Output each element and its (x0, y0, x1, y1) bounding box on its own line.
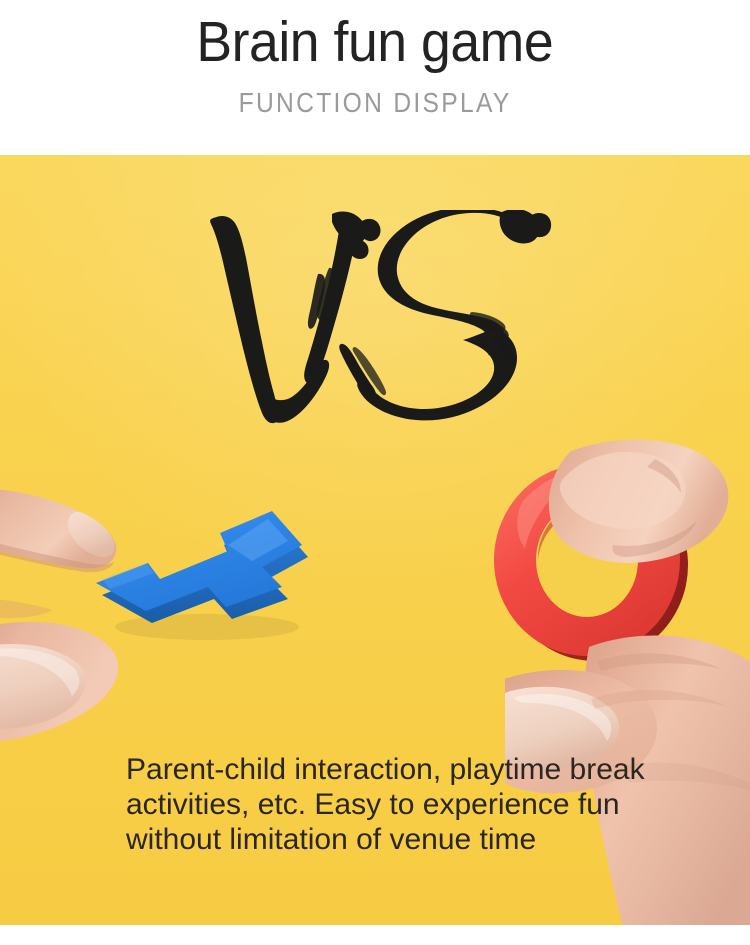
footer-strip (0, 925, 750, 945)
vs-lettering (196, 210, 566, 430)
header: Brain fun game FUNCTION DISPLAY (0, 0, 750, 155)
product-photo: Parent-child interaction, playtime break… (0, 155, 750, 925)
caption: Parent-child interaction, playtime break… (126, 752, 736, 857)
caption-line-3: without limitation of venue time (126, 822, 736, 857)
caption-line-1: Parent-child interaction, playtime break (126, 752, 736, 787)
product-banner: Brain fun game FUNCTION DISPLAY (0, 0, 750, 945)
caption-line-2: activities, etc. Easy to experience fun (126, 787, 736, 822)
page-subtitle: FUNCTION DISPLAY (238, 86, 511, 120)
page-title: Brain fun game (197, 4, 554, 80)
